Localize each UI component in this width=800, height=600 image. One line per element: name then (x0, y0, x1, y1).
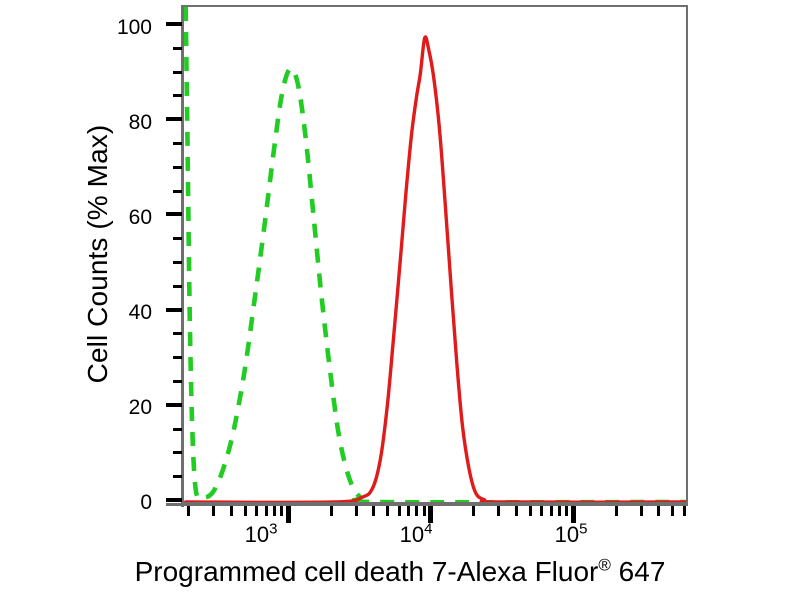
x-tick-major (571, 506, 576, 523)
x-tick-minor (540, 506, 543, 516)
y-tick-minor (173, 451, 182, 454)
x-tick-label-1e5: 105 (555, 524, 588, 546)
x-tick-exponent: 5 (579, 521, 587, 538)
histogram-curves (184, 7, 686, 502)
x-tick-mantissa: 10 (400, 522, 424, 547)
x-tick-minor (558, 506, 561, 516)
y-tick-major (166, 22, 182, 26)
x-tick-minor (230, 506, 233, 516)
y-tick-major (166, 308, 182, 312)
caption-suffix: 647 (611, 556, 666, 587)
x-axis-caption: Programmed cell death 7-Alexa Fluor® 647 (0, 556, 800, 588)
x-tick-exponent: 4 (424, 521, 432, 538)
flow-cytometry-histogram: Cell Counts (% Max) 100 80 60 40 20 0 10… (0, 0, 800, 600)
x-tick-minor (657, 506, 660, 516)
y-tick-major (166, 403, 182, 407)
x-tick-minor (372, 506, 375, 516)
y-tick-major (166, 212, 182, 216)
x-tick-mantissa: 10 (555, 522, 579, 547)
x-tick-minor (550, 506, 553, 516)
y-tick-minor (173, 47, 182, 50)
x-tick-minor (265, 506, 268, 516)
y-tick-minor (173, 285, 182, 288)
y-tick-minor (173, 356, 182, 359)
caption-prefix: Programmed cell death 7-Alexa Fluor (135, 556, 599, 587)
y-tick-minor (173, 94, 182, 97)
y-tick-label-0: 0 (82, 492, 152, 513)
y-tick-minor (173, 261, 182, 264)
y-tick-minor (173, 380, 182, 383)
x-tick-minor (472, 506, 475, 516)
y-tick-label-60: 60 (82, 207, 152, 228)
y-tick-major (166, 117, 182, 121)
plot-area (182, 5, 688, 504)
y-tick-label-20: 20 (82, 397, 152, 418)
x-tick-minor (640, 506, 643, 516)
x-tick-minor (423, 506, 426, 516)
x-tick-minor (330, 506, 333, 516)
x-tick-minor (615, 506, 618, 516)
x-tick-minor (212, 506, 215, 516)
x-tick-minor (280, 506, 283, 516)
x-tick-exponent: 3 (269, 521, 277, 538)
x-tick-minor (398, 506, 401, 516)
x-tick-minor (497, 506, 500, 516)
x-tick-minor (407, 506, 410, 516)
x-tick-minor (273, 506, 276, 516)
x-tick-minor (415, 506, 418, 516)
x-tick-mantissa: 10 (245, 522, 269, 547)
y-tick-minor (173, 332, 182, 335)
y-tick-minor (173, 475, 182, 478)
y-tick-minor (173, 166, 182, 169)
x-tick-minor (187, 506, 190, 516)
y-tick-label-40: 40 (82, 302, 152, 323)
x-tick-minor (515, 506, 518, 516)
x-tick-minor (255, 506, 258, 516)
y-tick-minor (173, 428, 182, 431)
y-tick-major (166, 498, 182, 502)
y-tick-minor (173, 71, 182, 74)
x-tick-major (286, 506, 291, 523)
x-tick-minor (671, 506, 674, 516)
y-tick-label-100: 100 (82, 17, 152, 38)
y-tick-minor (173, 237, 182, 240)
y-axis-line (181, 5, 184, 507)
y-tick-minor (173, 142, 182, 145)
y-tick-minor (173, 190, 182, 193)
x-tick-minor (565, 506, 568, 516)
x-tick-label-1e4: 104 (400, 524, 433, 546)
x-tick-minor (355, 506, 358, 516)
registered-trademark-icon: ® (598, 556, 611, 575)
y-tick-label-80: 80 (82, 112, 152, 133)
x-tick-minor (683, 506, 686, 516)
x-tick-minor (529, 506, 532, 516)
x-tick-minor (244, 506, 247, 516)
x-tick-minor (386, 506, 389, 516)
x-tick-label-1e3: 103 (245, 524, 278, 546)
